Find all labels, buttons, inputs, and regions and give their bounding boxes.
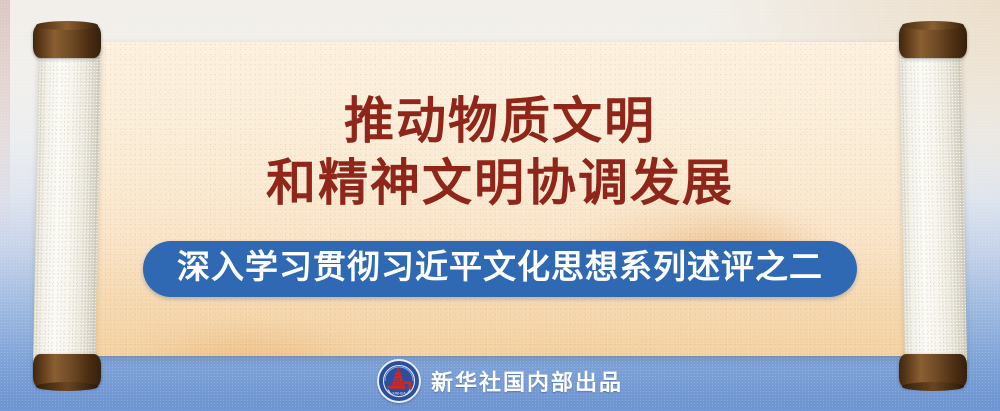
- headline-block: 推动物质文明 和精神文明协调发展: [0, 90, 1000, 214]
- headline-line-2: 和精神文明协调发展: [0, 152, 1000, 214]
- headline-line-1: 推动物质文明: [0, 90, 1000, 152]
- xinhua-pagoda-logo: XINHUA: [377, 359, 421, 403]
- scroll-roller-right: [902, 24, 964, 388]
- scroll-roller-left-cap-top: [33, 24, 101, 58]
- scroll-roller-right-cap-bottom: [899, 354, 967, 388]
- scroll-roller-right-cap-top: [899, 24, 967, 58]
- scroll-roller-left-cap-bottom: [33, 354, 101, 388]
- poster-canvas: 推动物质文明 和精神文明协调发展 深入学习贯彻习近平文化思想系列述评之二: [0, 0, 1000, 411]
- scroll-roller-left: [36, 24, 98, 388]
- scroll-roller-left-tube: [33, 46, 101, 366]
- subtitle-banner-wrap: 深入学习贯彻习近平文化思想系列述评之二: [0, 241, 1000, 297]
- footer-text: 新华社国内部出品: [431, 365, 623, 397]
- svg-text:XINHUA: XINHUA: [392, 391, 406, 395]
- subtitle-banner: 深入学习贯彻习近平文化思想系列述评之二: [143, 241, 857, 297]
- footer-attribution: XINHUA 新华社国内部出品: [0, 359, 1000, 403]
- scroll-roller-right-tube: [899, 46, 967, 366]
- xinhua-pagoda-icon: XINHUA: [379, 361, 419, 401]
